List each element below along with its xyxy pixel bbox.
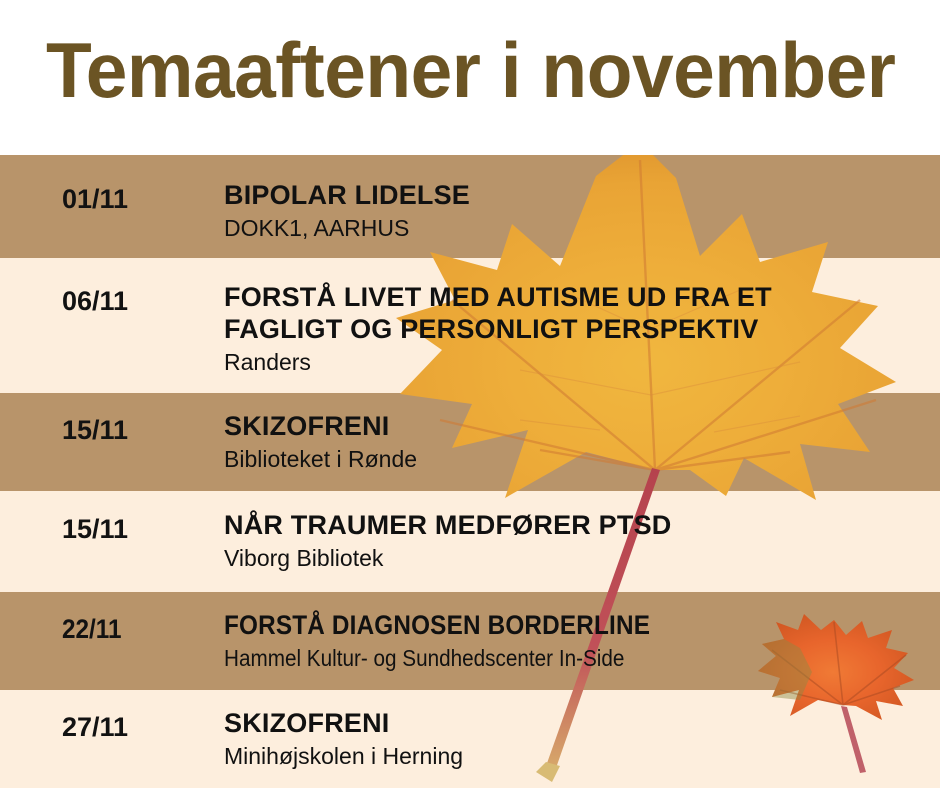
- event-date: 01/11: [62, 184, 212, 215]
- event-title-line-2: FAGLIGT OG PERSONLIGT PERSPEKTIV: [224, 313, 924, 345]
- event-venue: DOKK1, AARHUS: [224, 213, 924, 243]
- event-venue: Biblioteket i Rønde: [224, 444, 924, 474]
- event-details: BIPOLAR LIDELSE DOKK1, AARHUS: [224, 179, 924, 243]
- event-details: SKIZOFRENI Minihøjskolen i Herning: [224, 707, 924, 771]
- event-date: 06/11: [62, 286, 212, 317]
- event-date: 27/11: [62, 712, 212, 743]
- event-row[interactable]: 22/11 FORSTÅ DIAGNOSEN BORDERLINE Hammel…: [0, 592, 940, 690]
- event-row[interactable]: 06/11 FORSTÅ LIVET MED AUTISME UD FRA ET…: [0, 258, 940, 393]
- event-venue: Randers: [224, 347, 924, 377]
- event-title: BIPOLAR LIDELSE: [224, 179, 924, 211]
- poster-header: Temaaftener i november: [0, 0, 940, 155]
- event-title: SKIZOFRENI: [224, 707, 924, 739]
- event-details: FORSTÅ DIAGNOSEN BORDERLINE Hammel Kultu…: [224, 609, 924, 673]
- event-title: SKIZOFRENI: [224, 410, 924, 442]
- event-row[interactable]: 15/11 NÅR TRAUMER MEDFØRER PTSD Viborg B…: [0, 491, 940, 592]
- event-date: 22/11: [62, 614, 197, 645]
- poster-canvas: Temaaftener i november 01/11 BIPOLAR LID…: [0, 0, 940, 788]
- event-details: FORSTÅ LIVET MED AUTISME UD FRA ET FAGLI…: [224, 281, 924, 377]
- event-details: SKIZOFRENI Biblioteket i Rønde: [224, 410, 924, 474]
- event-venue: Viborg Bibliotek: [224, 543, 924, 573]
- event-title: FORSTÅ LIVET MED AUTISME UD FRA ET: [224, 281, 924, 313]
- event-row[interactable]: 01/11 BIPOLAR LIDELSE DOKK1, AARHUS: [0, 155, 940, 258]
- event-title: NÅR TRAUMER MEDFØRER PTSD: [224, 509, 924, 541]
- event-venue: Hammel Kultur- og Sundhedscenter In-Side: [224, 643, 854, 673]
- event-row[interactable]: 15/11 SKIZOFRENI Biblioteket i Rønde: [0, 393, 940, 491]
- page-title: Temaaftener i november: [46, 28, 872, 112]
- event-details: NÅR TRAUMER MEDFØRER PTSD Viborg Bibliot…: [224, 509, 924, 573]
- event-title: FORSTÅ DIAGNOSEN BORDERLINE: [224, 609, 854, 641]
- event-row[interactable]: 27/11 SKIZOFRENI Minihøjskolen i Herning: [0, 690, 940, 788]
- event-date: 15/11: [62, 514, 212, 545]
- event-date: 15/11: [62, 415, 212, 446]
- event-venue: Minihøjskolen i Herning: [224, 741, 924, 771]
